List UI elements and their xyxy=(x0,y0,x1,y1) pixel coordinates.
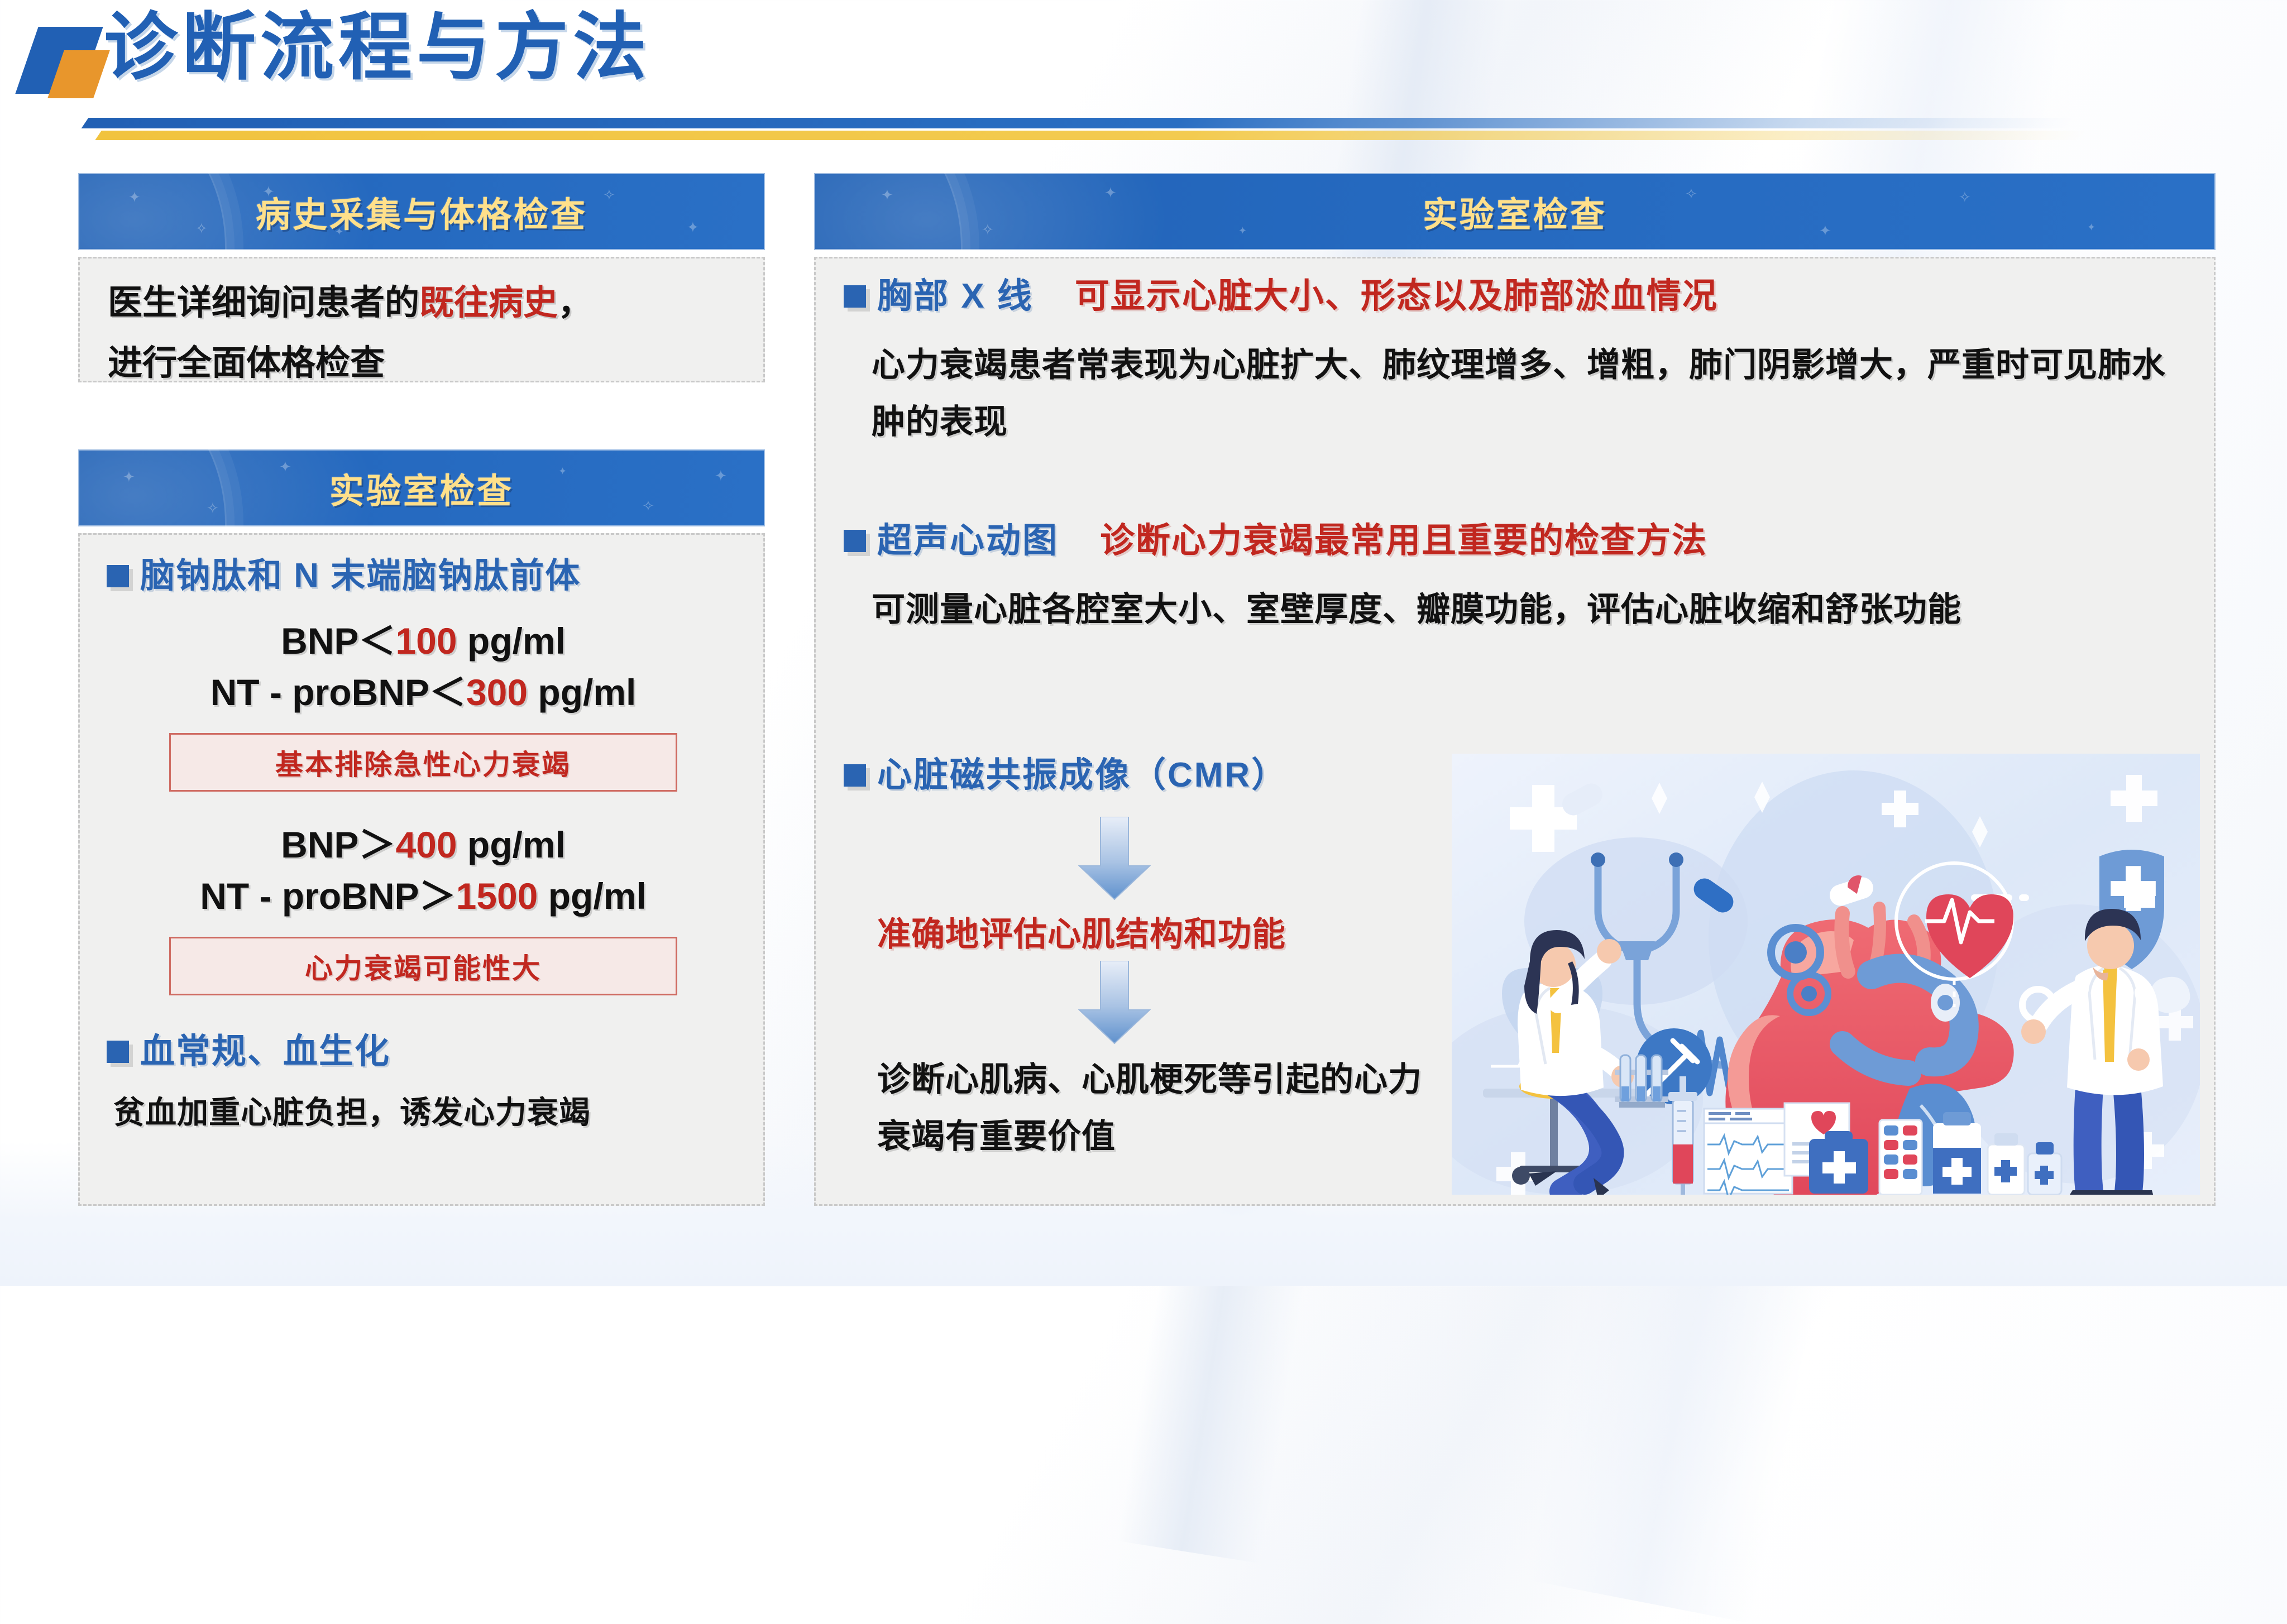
bnp-high-line2-unit: pg/ml xyxy=(538,875,646,917)
medical-illustration xyxy=(1452,754,2200,1195)
history-text: 医生详细询问患者的既往病史，进行全面体格检查 xyxy=(108,273,739,394)
bnp-high-line1-unit: pg/ml xyxy=(457,824,566,865)
right-panel-header-label: 实验室检查 xyxy=(1423,186,1607,237)
exam-item-echo-heading: 超声心动图 诊断心力衰竭最常用且重要的检查方法 xyxy=(844,515,1707,567)
exam-item-echo-paragraph: 可测量心脏各腔室大小、室壁厚度、瓣膜功能，评估心脏收缩和舒张功能 xyxy=(872,581,2178,638)
history-text-pre: 医生详细询问患者的 xyxy=(108,284,419,322)
exam-item-xray-paragraph: 心力衰竭患者常表现为心脏扩大、肺纹理增多、增粗，肺门阴影增大，严重时可见肺水肿的… xyxy=(872,337,2178,451)
exam-item-cmr-step1: 准确地评估心肌结构和功能 xyxy=(877,906,1436,963)
bullet-square-icon xyxy=(844,764,866,787)
bullet-square-icon xyxy=(844,530,866,552)
bullet-square-icon xyxy=(107,1041,129,1063)
left-panel2-header: ✦ ✧ ✦ ✦ ✧ ✦ 实验室检查 xyxy=(78,449,765,526)
lab-bullet-blood-label: 血常规、血生化 xyxy=(140,1026,390,1077)
bnp-normal-line1-label: BNP＜ xyxy=(281,620,395,662)
bullet-square-icon xyxy=(844,285,866,308)
exam-item-cmr-heading: 心脏磁共振成像（CMR） xyxy=(844,750,1288,801)
exam-item-xray-title: 胸部 X 线 xyxy=(877,271,1034,322)
title-rule-gold xyxy=(95,131,2089,140)
header-arc-decoration xyxy=(814,173,963,250)
brand-logo-icon xyxy=(21,27,105,98)
bnp-normal-line1-value: 100 xyxy=(395,620,457,662)
right-panel-header: ✦ ✧ ✦ ✦ ✧ ✦ ✧ ✦ 实验室检查 xyxy=(814,173,2216,250)
left-panel1-header: ✦ ✧ ✦ ✦ ✧ ✦ 病史采集与体格检查 xyxy=(78,173,765,250)
lab-bullet-bnp: 脑钠肽和 N 末端脑钠肽前体 xyxy=(107,550,743,602)
bnp-normal-line2-unit: pg/ml xyxy=(528,672,636,713)
left-panel2-header-label: 实验室检查 xyxy=(329,463,514,513)
exam-item-echo-title: 超声心动图 xyxy=(877,515,1059,567)
bnp-normal-line2: NT - proBNP＜300 pg/ml xyxy=(80,670,767,715)
left-panel2-body: 脑钠肽和 N 末端脑钠肽前体 BNP＜100 pg/ml NT - proBNP… xyxy=(78,533,765,1206)
history-text-highlight: 既往病史 xyxy=(419,284,558,322)
bnp-high-line2-label: NT - proBNP＞ xyxy=(200,875,456,917)
header-arc-decoration xyxy=(78,173,227,250)
exam-item-cmr-step2: 诊断心肌病、心肌梗死等引起的心力衰竭有重要价值 xyxy=(877,1051,1441,1165)
left-panel1-header-label: 病史采集与体格检查 xyxy=(256,186,587,237)
flow-arrow-down-icon xyxy=(1078,817,1151,900)
bnp-high-line2-value: 1500 xyxy=(456,875,538,917)
conclusion-box-high: 心力衰竭可能性大 xyxy=(169,937,677,995)
bnp-high-line1-label: BNP＞ xyxy=(281,824,395,865)
exam-item-xray-subtitle: 可显示心脏大小、形态以及肺部淤血情况 xyxy=(1075,271,1718,322)
bnp-normal-line1-unit: pg/ml xyxy=(457,620,566,662)
lab-bullet-blood: 血常规、血生化 xyxy=(107,1026,743,1077)
page-title: 诊断流程与方法 xyxy=(104,6,651,89)
slide-title-area: 诊断流程与方法 xyxy=(0,0,2287,148)
bnp-high-line2: NT - proBNP＞1500 pg/ml xyxy=(80,874,767,918)
bnp-normal-line1: BNP＜100 pg/ml xyxy=(80,619,767,663)
header-arc-decoration xyxy=(78,449,227,526)
title-rule-blue xyxy=(82,118,2077,128)
lab-bullet-bnp-label: 脑钠肽和 N 末端脑钠肽前体 xyxy=(140,550,581,602)
history-text-line2: 进行全面体格检查 xyxy=(108,344,385,382)
bnp-high-line1-value: 400 xyxy=(395,824,457,865)
history-text-post: ， xyxy=(558,284,592,322)
conclusion-box-normal: 基本排除急性心力衰竭 xyxy=(169,733,677,792)
exam-item-echo-subtitle: 诊断心力衰竭最常用且重要的检查方法 xyxy=(1100,515,1707,567)
bnp-normal-line2-label: NT - proBNP＜ xyxy=(210,672,466,713)
bullet-square-icon xyxy=(107,565,129,587)
lab-bullet-blood-sub: 贫血加重心脏负担，诱发心力衰竭 xyxy=(113,1093,739,1132)
bnp-normal-line2-value: 300 xyxy=(466,672,528,713)
left-panel1-body: 医生详细询问患者的既往病史，进行全面体格检查 xyxy=(78,257,765,382)
exam-item-cmr-title: 心脏磁共振成像（CMR） xyxy=(877,750,1288,801)
flow-arrow-down-icon-2 xyxy=(1078,961,1151,1045)
bnp-high-line1: BNP＞400 pg/ml xyxy=(80,822,767,867)
exam-item-xray-heading: 胸部 X 线 可显示心脏大小、形态以及肺部淤血情况 xyxy=(844,271,1718,322)
